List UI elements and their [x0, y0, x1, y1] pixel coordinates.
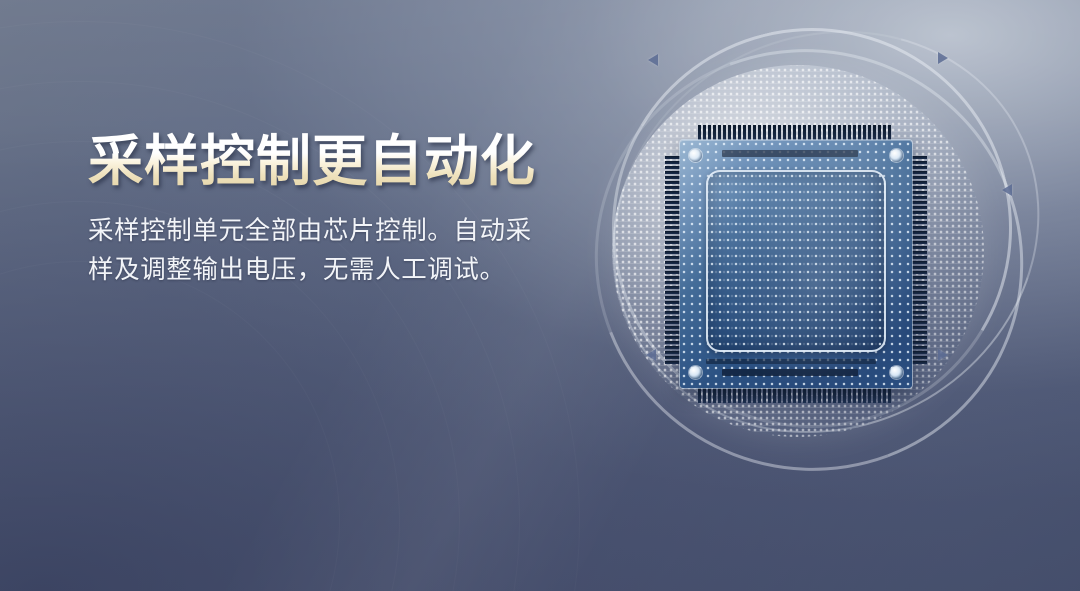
chip-body	[680, 140, 912, 388]
page-title: 采样控制更自动化	[88, 132, 558, 190]
chip-pins-bottom-icon	[698, 386, 894, 403]
description-line-2: 样及调整输出电压，无需人工调试。	[88, 251, 540, 290]
copy-block: 采样控制更自动化 采样控制单元全部由芯片控制。自动采 样及调整输出电压，无需人工…	[88, 132, 558, 290]
integrated-circuit-chip	[680, 140, 912, 388]
chip-gloss-highlight	[680, 140, 912, 388]
microchip-sphere-illustration	[560, 0, 1080, 510]
marker-bottom-right-icon	[938, 349, 948, 361]
marker-top-left-icon	[648, 54, 658, 66]
marker-bottom-left-icon	[646, 349, 656, 361]
promo-banner: 采样控制更自动化 采样控制单元全部由芯片控制。自动采 样及调整输出电压，无需人工…	[0, 0, 1080, 591]
description-line-1: 采样控制单元全部由芯片控制。自动采	[88, 212, 540, 251]
marker-right-icon	[1002, 184, 1012, 196]
chip-pins-right-icon	[910, 156, 927, 372]
page-description: 采样控制单元全部由芯片控制。自动采 样及调整输出电压，无需人工调试。	[88, 212, 540, 290]
marker-top-right-icon	[938, 52, 948, 64]
